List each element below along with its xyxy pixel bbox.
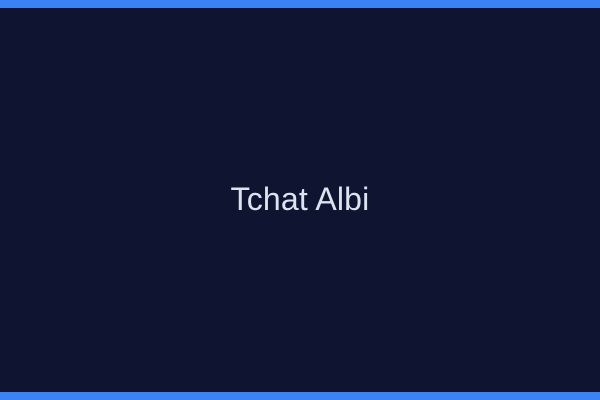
banner-title: Tchat Albi [231, 183, 370, 215]
bottom-accent-bar [0, 392, 600, 400]
top-accent-bar [0, 0, 600, 8]
banner-content-area: Tchat Albi [0, 8, 600, 392]
placeholder-banner: Tchat Albi [0, 0, 600, 400]
